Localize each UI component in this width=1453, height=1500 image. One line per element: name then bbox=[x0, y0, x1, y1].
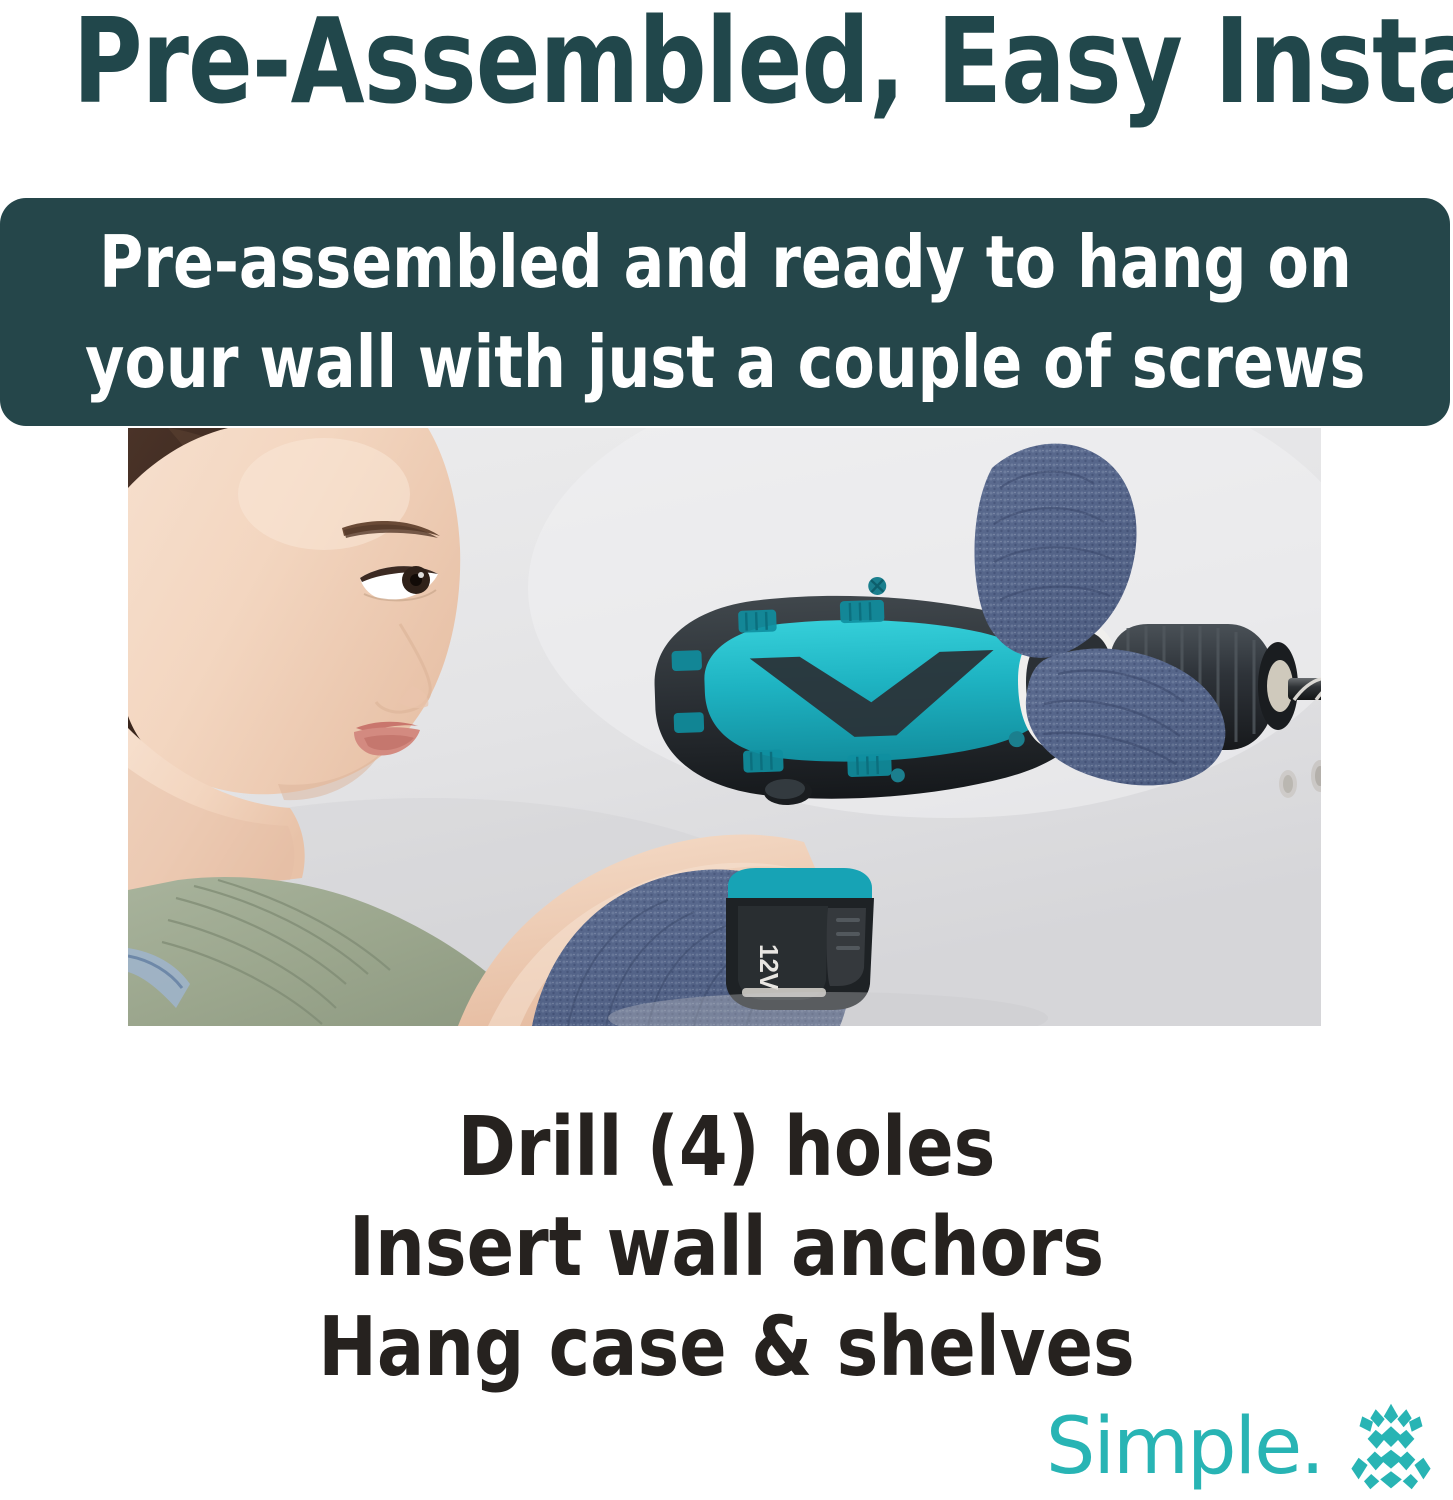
step-line-2: Insert wall anchors bbox=[36, 1198, 1416, 1298]
step-line-3: Hang case & shelves bbox=[36, 1298, 1416, 1398]
feature-banner: Pre-assembled and ready to hang on your … bbox=[0, 198, 1450, 426]
page-title: Pre-Assembled, Easy Install bbox=[73, 0, 1381, 126]
brand-wordmark: Simple. bbox=[1046, 1408, 1323, 1486]
installation-photo: 1 12 4 bbox=[128, 428, 1321, 1026]
svg-text:12V: 12V bbox=[754, 944, 784, 991]
banner-line-1: Pre-assembled and ready to hang on bbox=[99, 212, 1352, 312]
photo-illustration: 1 12 4 bbox=[128, 428, 1321, 1026]
banner-line-2: your wall with just a couple of screws bbox=[85, 312, 1365, 412]
pineapple-logo-icon bbox=[1345, 1402, 1437, 1492]
installation-steps: Drill (4) holes Insert wall anchors Hang… bbox=[0, 1098, 1453, 1398]
step-line-1: Drill (4) holes bbox=[36, 1098, 1416, 1198]
brand-logo: Simple. bbox=[1046, 1402, 1437, 1492]
